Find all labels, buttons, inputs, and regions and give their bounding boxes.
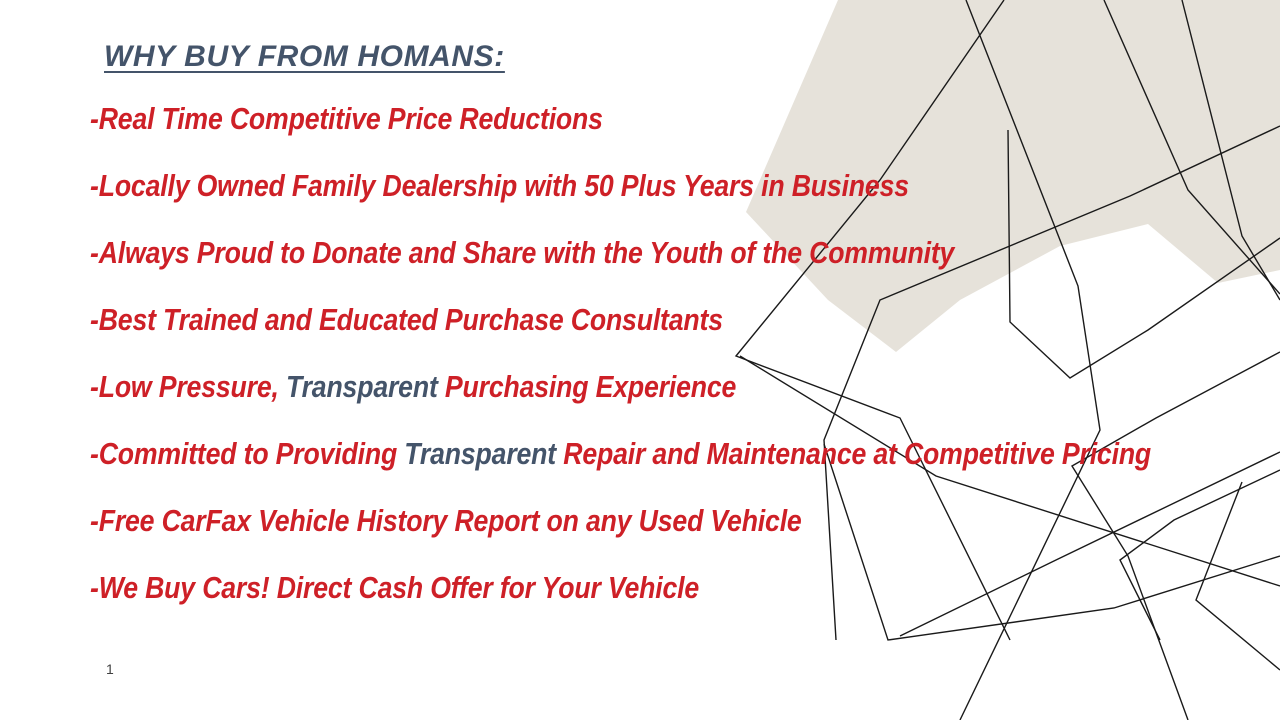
page-title: WHY BUY FROM HOMANS: [104,40,505,74]
list-item: -We Buy Cars! Direct Cash Offer for Your… [90,568,1105,635]
list-item-text: Purchasing Experience [438,369,736,404]
list-item-text: -Real Time Competitive Price Reductions [90,101,603,136]
list-item: -Committed to Providing Transparent Repa… [90,434,1105,501]
list-item: -Real Time Competitive Price Reductions [90,99,1105,166]
list-item: -Low Pressure, Transparent Purchasing Ex… [90,367,1105,434]
list-item-text: Transparent [286,369,438,404]
list-item-text: Transparent [404,436,556,471]
slide-content: WHY BUY FROM HOMANS: -Real Time Competit… [0,0,1280,720]
list-item-text: -Best Trained and Educated Purchase Cons… [90,302,723,337]
list-item: -Best Trained and Educated Purchase Cons… [90,300,1105,367]
list-item-text: -Committed to Providing [90,436,404,471]
benefits-list: -Real Time Competitive Price Reductions … [90,99,1270,635]
list-item: -Always Proud to Donate and Share with t… [90,233,1105,300]
list-item-text: -Always Proud to Donate and Share with t… [90,235,954,270]
list-item-text: -Locally Owned Family Dealership with 50… [90,168,909,203]
page-number: 1 [106,661,114,677]
list-item: -Free CarFax Vehicle History Report on a… [90,501,1105,568]
list-item-text: -Low Pressure, [90,369,286,404]
list-item: -Locally Owned Family Dealership with 50… [90,166,1105,233]
list-item-text: Repair and Maintenance at Competitive Pr… [556,436,1151,471]
list-item-text: -We Buy Cars! Direct Cash Offer for Your… [90,570,699,605]
presentation-slide: WHY BUY FROM HOMANS: -Real Time Competit… [0,0,1280,720]
list-item-text: -Free CarFax Vehicle History Report on a… [90,503,802,538]
